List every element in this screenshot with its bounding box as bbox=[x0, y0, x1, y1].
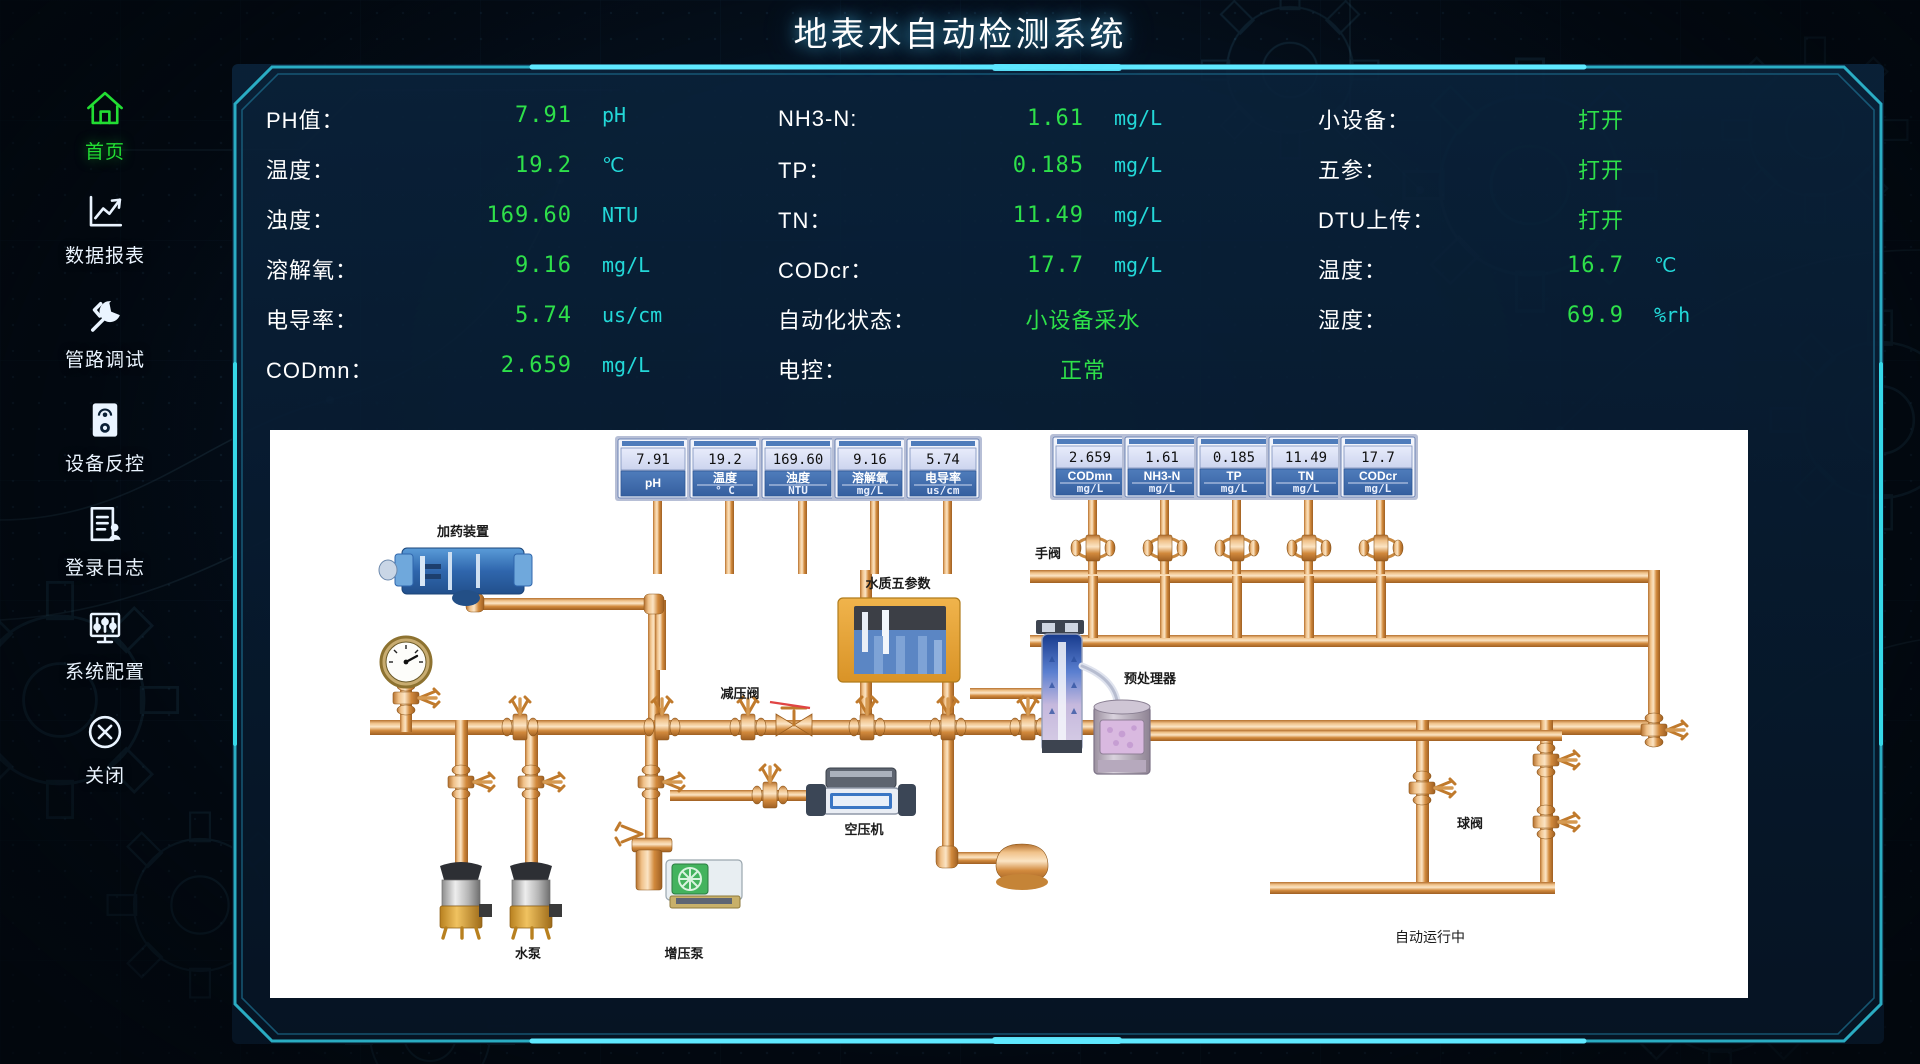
readout-label: CODmn： bbox=[266, 353, 436, 385]
readout-unit: ℃ bbox=[576, 153, 696, 185]
sensor-unit: mg/L bbox=[1221, 482, 1248, 495]
sensor-name: TN bbox=[1298, 469, 1314, 483]
sensor-name: 温度 bbox=[713, 470, 738, 485]
sensor-name: TP bbox=[1226, 469, 1241, 483]
readout-value: 11.49 bbox=[948, 203, 1088, 235]
readout-row: 浊度： 169.60 NTU TN： 11.49 mg/L DTU上传： 打开 bbox=[266, 194, 1856, 244]
readout-label: CODcr： bbox=[778, 253, 948, 285]
sensor-box: 0.185 TP mg/L bbox=[1194, 434, 1274, 500]
sensor-box: 11.49 TN mg/L bbox=[1266, 434, 1346, 500]
readout-cell: 溶解氧： 9.16 mg/L bbox=[266, 253, 778, 285]
readout-value: 2.659 bbox=[436, 353, 576, 385]
readout-unit: %rh bbox=[1628, 303, 1748, 335]
readout-cell: 自动化状态： 小设备采水 bbox=[778, 303, 1318, 335]
readout-row: 电导率： 5.74 us/cm 自动化状态： 小设备采水 湿度： 69.9 %r… bbox=[266, 294, 1856, 344]
sidebar-item-close[interactable]: 关闭 bbox=[46, 710, 164, 788]
sensor-name: pH bbox=[645, 476, 661, 490]
process-diagram-canvas: 7.91 pH 19.2 温度 ° C 169.60 bbox=[270, 430, 1748, 998]
sidebar-item-label: 系统配置 bbox=[65, 657, 145, 684]
sidebar-item-device-control[interactable]: 设备反控 bbox=[46, 398, 164, 476]
readout-grid: PH值： 7.91 pH NH3-N: 1.61 mg/L 小设备： 打开 温度… bbox=[266, 94, 1856, 394]
readout-cell: 温度： 19.2 ℃ bbox=[266, 153, 778, 185]
readout-cell: PH值： 7.91 pH bbox=[266, 103, 778, 135]
process-flow-svg: 7.91 pH 19.2 温度 ° C 169.60 bbox=[270, 430, 1748, 998]
sidebar-item-label: 数据报表 bbox=[65, 241, 145, 268]
readout-cell: CODmn： 2.659 mg/L bbox=[266, 353, 778, 385]
process-diagram: 7.91 pH 19.2 温度 ° C 169.60 bbox=[270, 430, 1750, 1000]
equipment-label-booster-pump: 增压泵 bbox=[664, 946, 703, 961]
readout-unit bbox=[1628, 153, 1748, 185]
readout-value: 正常 bbox=[968, 353, 1198, 385]
readout-label: 自动化状态： bbox=[778, 303, 968, 335]
readout-value: 17.7 bbox=[948, 253, 1088, 285]
readout-value: 打开 bbox=[1488, 203, 1628, 235]
readout-unit bbox=[1198, 303, 1318, 335]
readout-cell: DTU上传： 打开 bbox=[1318, 203, 1838, 235]
sidebar-item-label: 设备反控 bbox=[65, 449, 145, 476]
readout-unit: pH bbox=[576, 103, 696, 135]
sensor-unit: us/cm bbox=[926, 484, 959, 497]
readout-label: TN： bbox=[778, 203, 948, 235]
sensor-value: 11.49 bbox=[1285, 450, 1327, 466]
sensor-box: 2.659 CODmn mg/L bbox=[1050, 434, 1130, 500]
readout-value: 小设备采水 bbox=[968, 303, 1198, 335]
sensor-box: 1.61 NH3-N mg/L bbox=[1122, 434, 1202, 500]
readout-cell: TP： 0.185 mg/L bbox=[778, 153, 1318, 185]
sensor-box: 19.2 温度 ° C bbox=[687, 436, 763, 501]
readout-value: 1.61 bbox=[948, 106, 1088, 132]
device-icon bbox=[82, 398, 128, 442]
readout-row: PH值： 7.91 pH NH3-N: 1.61 mg/L 小设备： 打开 bbox=[266, 94, 1856, 144]
sensor-value: 7.91 bbox=[636, 452, 670, 468]
readout-value: 69.9 bbox=[1488, 303, 1628, 335]
page-title: 地表水自动检测系统 bbox=[794, 7, 1127, 56]
equipment-label-ball-valve: 球阀 bbox=[1457, 816, 1483, 831]
sensor-box: 17.7 CODcr mg/L bbox=[1338, 434, 1418, 500]
sidebar-item-home[interactable]: 首页 bbox=[46, 86, 164, 164]
readout-label: 小设备： bbox=[1318, 103, 1488, 135]
sensor-unit: mg/L bbox=[1293, 482, 1320, 495]
sensor-value: 169.60 bbox=[773, 452, 824, 468]
readout-label: PH值： bbox=[266, 103, 436, 135]
readout-value: 169.60 bbox=[436, 203, 576, 235]
sensor-name: CODmn bbox=[1068, 469, 1113, 483]
sidebar-item-label: 关闭 bbox=[85, 761, 125, 788]
main-panel: PH值： 7.91 pH NH3-N: 1.61 mg/L 小设备： 打开 温度… bbox=[232, 64, 1884, 1044]
sidebar-item-data-report[interactable]: 数据报表 bbox=[46, 190, 164, 268]
readout-label: 温度： bbox=[266, 153, 436, 185]
sidebar-item-pipe-debug[interactable]: 管路调试 bbox=[46, 294, 164, 372]
pressure-gauge bbox=[381, 637, 431, 687]
sidebar-item-label: 登录日志 bbox=[65, 553, 145, 580]
sensor-value: 1.61 bbox=[1145, 450, 1179, 466]
readout-cell: 电导率： 5.74 us/cm bbox=[266, 303, 778, 335]
readout-unit: mg/L bbox=[576, 253, 696, 285]
sensor-unit: NTU bbox=[788, 484, 808, 497]
readout-label: 五参： bbox=[1318, 153, 1488, 185]
sensor-name: CODcr bbox=[1359, 469, 1397, 483]
readout-label: 溶解氧： bbox=[266, 253, 436, 285]
wrench-icon bbox=[82, 294, 128, 338]
readout-row: 溶解氧： 9.16 mg/L CODcr： 17.7 mg/L 温度： 16.7… bbox=[266, 244, 1856, 294]
readout-value: 打开 bbox=[1488, 103, 1628, 135]
readout-cell: 五参： 打开 bbox=[1318, 153, 1838, 185]
readout-unit: mg/L bbox=[1088, 253, 1208, 285]
sensor-box: 169.60 浊度 NTU bbox=[759, 436, 837, 501]
sensor-name: 浊度 bbox=[786, 470, 811, 485]
equipment-label-manual-valve: 手阀 bbox=[1035, 546, 1061, 561]
readout-row: CODmn： 2.659 mg/L 电控： 正常 bbox=[266, 344, 1856, 394]
sidebar-item-label: 管路调试 bbox=[65, 345, 145, 372]
readout-unit: ℃ bbox=[1628, 253, 1748, 285]
equipment-label-water-pump: 水泵 bbox=[515, 946, 541, 961]
equipment-label-dosing: 加药装置 bbox=[436, 524, 489, 539]
readout-value: 19.2 bbox=[436, 153, 576, 185]
sensor-unit: ° C bbox=[715, 484, 735, 497]
readout-unit: us/cm bbox=[576, 303, 696, 335]
readout-label: TP： bbox=[778, 153, 948, 185]
sliders-icon bbox=[82, 606, 128, 650]
sensor-name: 溶解氧 bbox=[852, 470, 888, 485]
sensor-value: 0.185 bbox=[1213, 450, 1255, 466]
readout-unit: mg/L bbox=[1088, 203, 1208, 235]
readout-value: 16.7 bbox=[1488, 253, 1628, 285]
close-icon bbox=[82, 710, 128, 754]
readout-cell: 湿度： 69.9 %rh bbox=[1318, 303, 1838, 335]
readout-value: 7.91 bbox=[436, 103, 576, 135]
readout-label: 湿度： bbox=[1318, 303, 1488, 335]
sensor-box: 9.16 溶解氧 mg/L bbox=[832, 436, 908, 501]
sidebar-item-label: 首页 bbox=[85, 137, 125, 164]
sensor-unit: mg/L bbox=[1149, 482, 1176, 495]
readout-unit: mg/L bbox=[1088, 106, 1208, 132]
sensor-box: 7.91 pH bbox=[615, 436, 691, 501]
diagram-status-text: 自动运行中 bbox=[1395, 929, 1465, 945]
readout-label: 温度： bbox=[1318, 253, 1488, 285]
readout-unit: mg/L bbox=[1088, 153, 1208, 185]
sensor-value: 9.16 bbox=[853, 452, 887, 468]
readout-value: 打开 bbox=[1488, 153, 1628, 185]
readout-label: 浊度： bbox=[266, 203, 436, 235]
readout-label: 电导率： bbox=[266, 303, 436, 335]
sidebar-item-system-config[interactable]: 系统配置 bbox=[46, 606, 164, 684]
sensor-name: NH3-N bbox=[1144, 469, 1181, 483]
app-title-bar: 地表水自动检测系统 bbox=[0, 0, 1920, 62]
readout-unit bbox=[1628, 203, 1748, 235]
sidebar-item-login-log[interactable]: 登录日志 bbox=[46, 502, 164, 580]
readout-cell: CODcr： 17.7 mg/L bbox=[778, 253, 1318, 285]
readout-value: 5.74 bbox=[436, 303, 576, 335]
chart-icon bbox=[82, 190, 128, 234]
sensor-name: 电导率 bbox=[925, 470, 961, 485]
readout-label: 电控： bbox=[778, 353, 968, 385]
readout-label: DTU上传： bbox=[1318, 203, 1488, 235]
sensor-value: 17.7 bbox=[1361, 450, 1395, 466]
equipment-label-pretreatment: 预处理器 bbox=[1124, 671, 1177, 686]
readout-unit: mg/L bbox=[576, 353, 696, 385]
readout-cell: TN： 11.49 mg/L bbox=[778, 203, 1318, 235]
equipment-label-air-compressor: 空压机 bbox=[844, 822, 883, 837]
readout-unit bbox=[1198, 353, 1318, 385]
sensor-unit: mg/L bbox=[1077, 482, 1104, 495]
equipment-label-five-param: 水质五参数 bbox=[865, 576, 931, 591]
sensor-unit: mg/L bbox=[1365, 482, 1392, 495]
sensor-value: 19.2 bbox=[708, 452, 742, 468]
sensor-value: 5.74 bbox=[926, 452, 960, 468]
readout-label: NH3-N: bbox=[778, 106, 948, 132]
readout-row: 温度： 19.2 ℃ TP： 0.185 mg/L 五参： 打开 bbox=[266, 144, 1856, 194]
sensor-box: 5.74 电导率 us/cm bbox=[904, 436, 982, 501]
readout-unit: NTU bbox=[576, 203, 696, 235]
readout-cell: 电控： 正常 bbox=[778, 353, 1318, 385]
readout-cell: 浊度： 169.60 NTU bbox=[266, 203, 778, 235]
readout-unit bbox=[1628, 103, 1748, 135]
sensor-value: 2.659 bbox=[1069, 450, 1111, 466]
home-icon bbox=[82, 86, 128, 130]
readout-cell: 温度： 16.7 ℃ bbox=[1318, 253, 1838, 285]
readout-value: 0.185 bbox=[948, 153, 1088, 185]
equipment-label-reducing-valve: 减压阀 bbox=[720, 686, 759, 701]
readout-cell: NH3-N: 1.61 mg/L bbox=[778, 106, 1318, 132]
readout-cell: 小设备： 打开 bbox=[1318, 103, 1838, 135]
readout-value: 9.16 bbox=[436, 253, 576, 285]
log-user-icon bbox=[82, 502, 128, 546]
sensor-unit: mg/L bbox=[857, 484, 884, 497]
sidebar-nav: 首页 数据报表 管路调试 bbox=[40, 86, 170, 788]
